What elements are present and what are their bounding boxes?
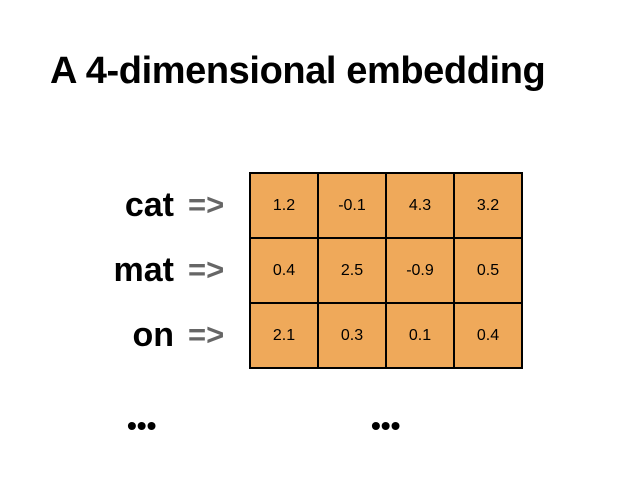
embedding-cell: 3.2: [454, 173, 522, 238]
page-title: A 4-dimensional embedding: [50, 48, 610, 94]
ellipsis-words: •••: [127, 412, 156, 440]
embedding-cell: 4.3: [386, 173, 454, 238]
embedding-cell: 0.1: [386, 303, 454, 368]
table-row: 0.4 2.5 -0.9 0.5: [250, 238, 522, 303]
table-row: 2.1 0.3 0.1 0.4: [250, 303, 522, 368]
embedding-cell: 0.4: [250, 238, 318, 303]
mapping-row-on: on =>: [0, 302, 240, 367]
embedding-cell: 2.1: [250, 303, 318, 368]
ellipsis-values: •••: [371, 412, 400, 440]
slide-canvas: A 4-dimensional embedding cat => mat => …: [0, 0, 638, 484]
embedding-cell: 0.3: [318, 303, 386, 368]
embedding-cell: -0.9: [386, 238, 454, 303]
embedding-cell: 1.2: [250, 173, 318, 238]
arrow-icon: =>: [174, 254, 240, 285]
embedding-cell: 0.5: [454, 238, 522, 303]
mapping-word-on: on: [132, 318, 174, 352]
mapping-row-cat: cat =>: [0, 172, 240, 237]
arrow-icon: =>: [174, 189, 240, 220]
mapping-word-mat: mat: [114, 253, 174, 287]
mapping-row-mat: mat =>: [0, 237, 240, 302]
embedding-cell: 0.4: [454, 303, 522, 368]
embedding-cell: -0.1: [318, 173, 386, 238]
embedding-matrix: 1.2 -0.1 4.3 3.2 0.4 2.5 -0.9 0.5 2.1 0.…: [249, 172, 523, 369]
table-row: 1.2 -0.1 4.3 3.2: [250, 173, 522, 238]
mapping-word-cat: cat: [125, 188, 174, 222]
arrow-icon: =>: [174, 319, 240, 350]
embedding-cell: 2.5: [318, 238, 386, 303]
word-mapping-list: cat => mat => on =>: [0, 172, 240, 367]
